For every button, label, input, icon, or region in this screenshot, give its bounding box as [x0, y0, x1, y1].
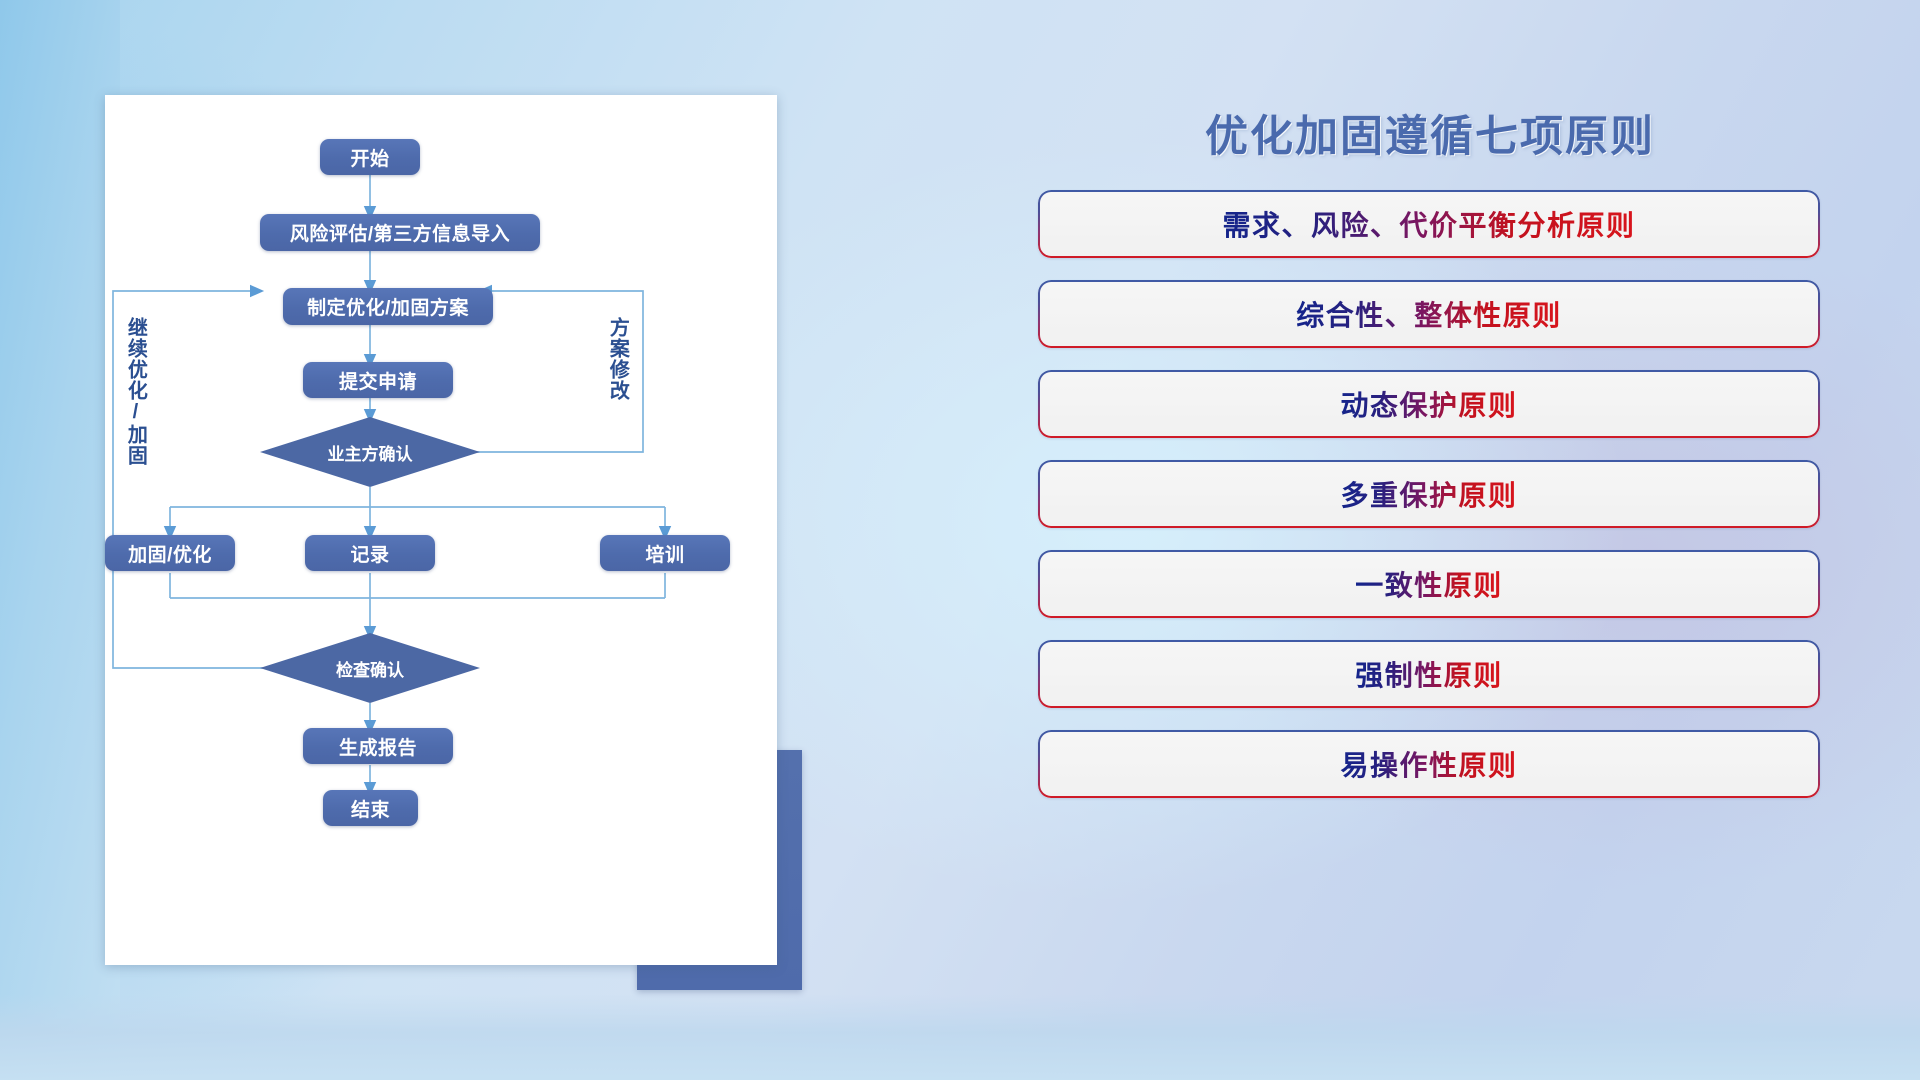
flow-node-label: 开始 [350, 144, 389, 171]
principle-label: 需求、风险、代价平衡分析原则 [1222, 204, 1635, 244]
flow-node-label: 加固/优化 [128, 540, 212, 567]
flow-node-end[interactable]: 结束 [323, 790, 418, 826]
flow-node-label: 检查确认 [336, 656, 404, 681]
principle-card-1[interactable]: 需求、风险、代价平衡分析原则 [1038, 190, 1820, 258]
flow-node-label: 结束 [351, 795, 390, 822]
principle-card-6[interactable]: 强制性原则 [1038, 640, 1820, 708]
flow-node-label: 风险评估/第三方信息导入 [290, 219, 510, 246]
flow-node-label: 提交申请 [339, 367, 417, 394]
flow-decision-check-confirm[interactable]: 检查确认 [260, 633, 480, 703]
flow-node-label: 培训 [645, 540, 684, 567]
principles-list: 需求、风险、代价平衡分析原则 综合性、整体性原则 动态保护原则 多重保护原则 一… [1038, 190, 1820, 820]
flow-edge-label-continue-optimize: 继续优化/加固 [125, 317, 145, 466]
principle-card-2[interactable]: 综合性、整体性原则 [1038, 280, 1820, 348]
flow-node-training[interactable]: 培训 [600, 535, 730, 571]
principle-card-3[interactable]: 动态保护原则 [1038, 370, 1820, 438]
flow-node-start[interactable]: 开始 [320, 139, 420, 175]
flow-node-label: 制定优化/加固方案 [307, 293, 469, 320]
flow-node-label: 记录 [350, 540, 389, 567]
flow-node-label: 生成报告 [339, 733, 417, 760]
principle-card-5[interactable]: 一致性原则 [1038, 550, 1820, 618]
principles-panel: 优化加固遵循七项原则 需求、风险、代价平衡分析原则 综合性、整体性原则 动态保护… [1020, 80, 1840, 1000]
slide-canvas: 开始 风险评估/第三方信息导入 制定优化/加固方案 提交申请 业主方确认 加固/… [0, 0, 1920, 1080]
principle-label: 强制性原则 [1355, 654, 1503, 694]
flow-edge-label-plan-revision: 方案修改 [607, 317, 627, 401]
flow-node-assess[interactable]: 风险评估/第三方信息导入 [260, 214, 540, 251]
principle-label: 动态保护原则 [1340, 384, 1517, 424]
principle-label: 多重保护原则 [1340, 474, 1517, 514]
flow-node-reinforce[interactable]: 加固/优化 [105, 535, 235, 571]
flow-node-report[interactable]: 生成报告 [303, 728, 453, 764]
flow-node-label: 业主方确认 [328, 440, 413, 465]
principle-label: 综合性、整体性原则 [1296, 294, 1562, 334]
principle-card-4[interactable]: 多重保护原则 [1038, 460, 1820, 528]
page-title: 优化加固遵循七项原则 [1020, 102, 1840, 164]
principle-label: 易操作性原则 [1340, 744, 1517, 784]
flowchart-panel: 开始 风险评估/第三方信息导入 制定优化/加固方案 提交申请 业主方确认 加固/… [105, 95, 777, 965]
flow-node-record[interactable]: 记录 [305, 535, 435, 571]
principle-label: 一致性原则 [1355, 564, 1503, 604]
flow-decision-owner-confirm[interactable]: 业主方确认 [260, 417, 480, 487]
principle-card-7[interactable]: 易操作性原则 [1038, 730, 1820, 798]
flow-node-plan[interactable]: 制定优化/加固方案 [283, 288, 493, 325]
flow-node-submit[interactable]: 提交申请 [303, 362, 453, 398]
